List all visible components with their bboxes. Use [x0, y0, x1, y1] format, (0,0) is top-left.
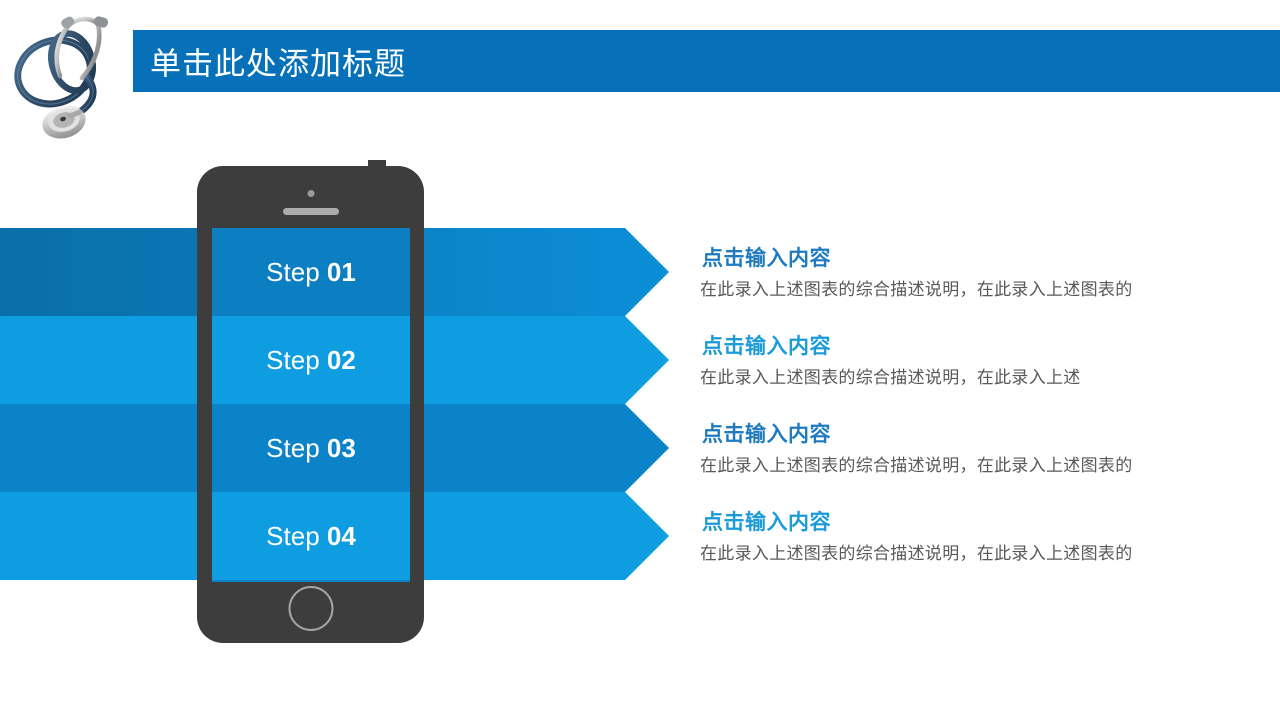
description-column: 点击输入内容 在此录入上述图表的综合描述说明，在此录入上述图表的 点击输入内容 …	[700, 228, 1260, 580]
block-body-4: 在此录入上述图表的综合描述说明，在此录入上述图表的	[700, 539, 1133, 564]
block-heading-4: 点击输入内容	[702, 506, 831, 536]
speaker-grille-icon	[283, 208, 339, 215]
description-block-4[interactable]: 点击输入内容 在此录入上述图表的综合描述说明，在此录入上述图表的	[700, 492, 1260, 580]
step-row-4[interactable]: Step 04	[212, 492, 410, 580]
block-body-1: 在此录入上述图表的综合描述说明，在此录入上述图表的	[700, 275, 1133, 300]
phone-mockup: Step 01 Step 02 Step 03 Step 04	[197, 166, 424, 643]
block-body-3: 在此录入上述图表的综合描述说明，在此录入上述图表的	[700, 451, 1133, 476]
step-label-3: Step 03	[266, 433, 356, 464]
step-row-3[interactable]: Step 03	[212, 404, 410, 492]
phone-screen: Step 01 Step 02 Step 03 Step 04	[212, 228, 410, 582]
title-banner: 单击此处添加标题	[133, 30, 1280, 92]
description-block-2[interactable]: 点击输入内容 在此录入上述图表的综合描述说明，在此录入上述	[700, 316, 1260, 404]
description-block-1[interactable]: 点击输入内容 在此录入上述图表的综合描述说明，在此录入上述图表的	[700, 228, 1260, 316]
description-block-3[interactable]: 点击输入内容 在此录入上述图表的综合描述说明，在此录入上述图表的	[700, 404, 1260, 492]
block-body-2: 在此录入上述图表的综合描述说明，在此录入上述	[700, 363, 1081, 388]
step-label-4: Step 04	[266, 521, 356, 552]
page-title: 单击此处添加标题	[150, 39, 406, 84]
block-heading-1: 点击输入内容	[702, 242, 831, 272]
step-row-2[interactable]: Step 02	[212, 316, 410, 404]
home-button-icon[interactable]	[288, 586, 333, 631]
step-label-1: Step 01	[266, 257, 356, 288]
step-row-1[interactable]: Step 01	[212, 228, 410, 316]
stethoscope-icon	[6, 4, 134, 146]
block-heading-3: 点击输入内容	[702, 418, 831, 448]
block-heading-2: 点击输入内容	[702, 330, 831, 360]
camera-dot-icon	[307, 190, 314, 197]
step-label-2: Step 02	[266, 345, 356, 376]
slide-header: 单击此处添加标题	[0, 0, 1280, 160]
